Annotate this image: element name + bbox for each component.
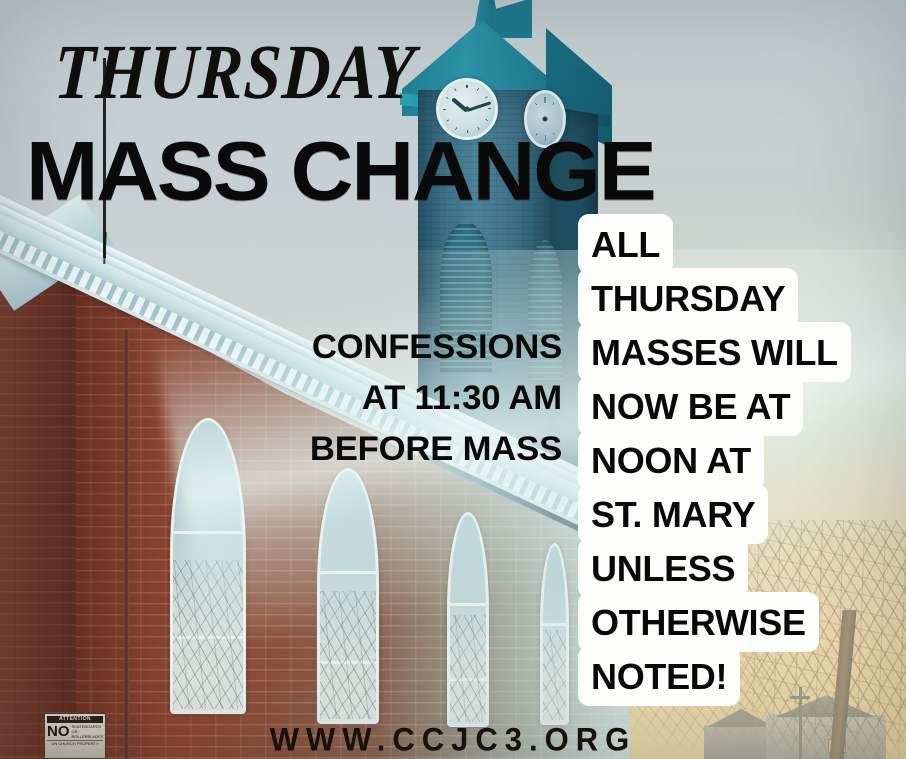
notice-line-1: ALL xyxy=(578,214,673,274)
website-url: WWW.CCJC3.ORG xyxy=(0,721,906,758)
notice-line-6: ST. MARY xyxy=(578,484,768,544)
confessions-line-2: AT 11:30 AM xyxy=(132,373,562,424)
headline-mass-change: MASS CHANGE xyxy=(26,130,655,214)
text-overlay: THURSDAY MASS CHANGE CONFESSIONS AT 11:3… xyxy=(0,0,906,759)
notice-block: ALL THURSDAY MASSES WILL NOW BE AT NOON … xyxy=(578,214,896,700)
notice-line-7: UNLESS xyxy=(578,538,748,598)
notice-line-3: MASSES WILL xyxy=(578,322,851,382)
notice-line-5: NOON AT xyxy=(578,430,764,490)
poster-canvas: ATTENTION NO SKATEBOARDS OR ROLLERBLADES… xyxy=(0,0,906,759)
lightning-rod-cable xyxy=(103,232,107,264)
confessions-line-1: CONFESSIONS xyxy=(132,322,562,373)
notice-line-4: NOW BE AT xyxy=(578,376,803,436)
confessions-block: CONFESSIONS AT 11:30 AM BEFORE MASS xyxy=(132,322,562,475)
confessions-line-3: BEFORE MASS xyxy=(132,424,562,475)
headline-script-thursday: THURSDAY xyxy=(52,33,417,111)
notice-line-9: NOTED! xyxy=(578,646,740,706)
notice-line-8: OTHERWISE xyxy=(578,592,819,652)
notice-line-2: THURSDAY xyxy=(578,268,798,328)
